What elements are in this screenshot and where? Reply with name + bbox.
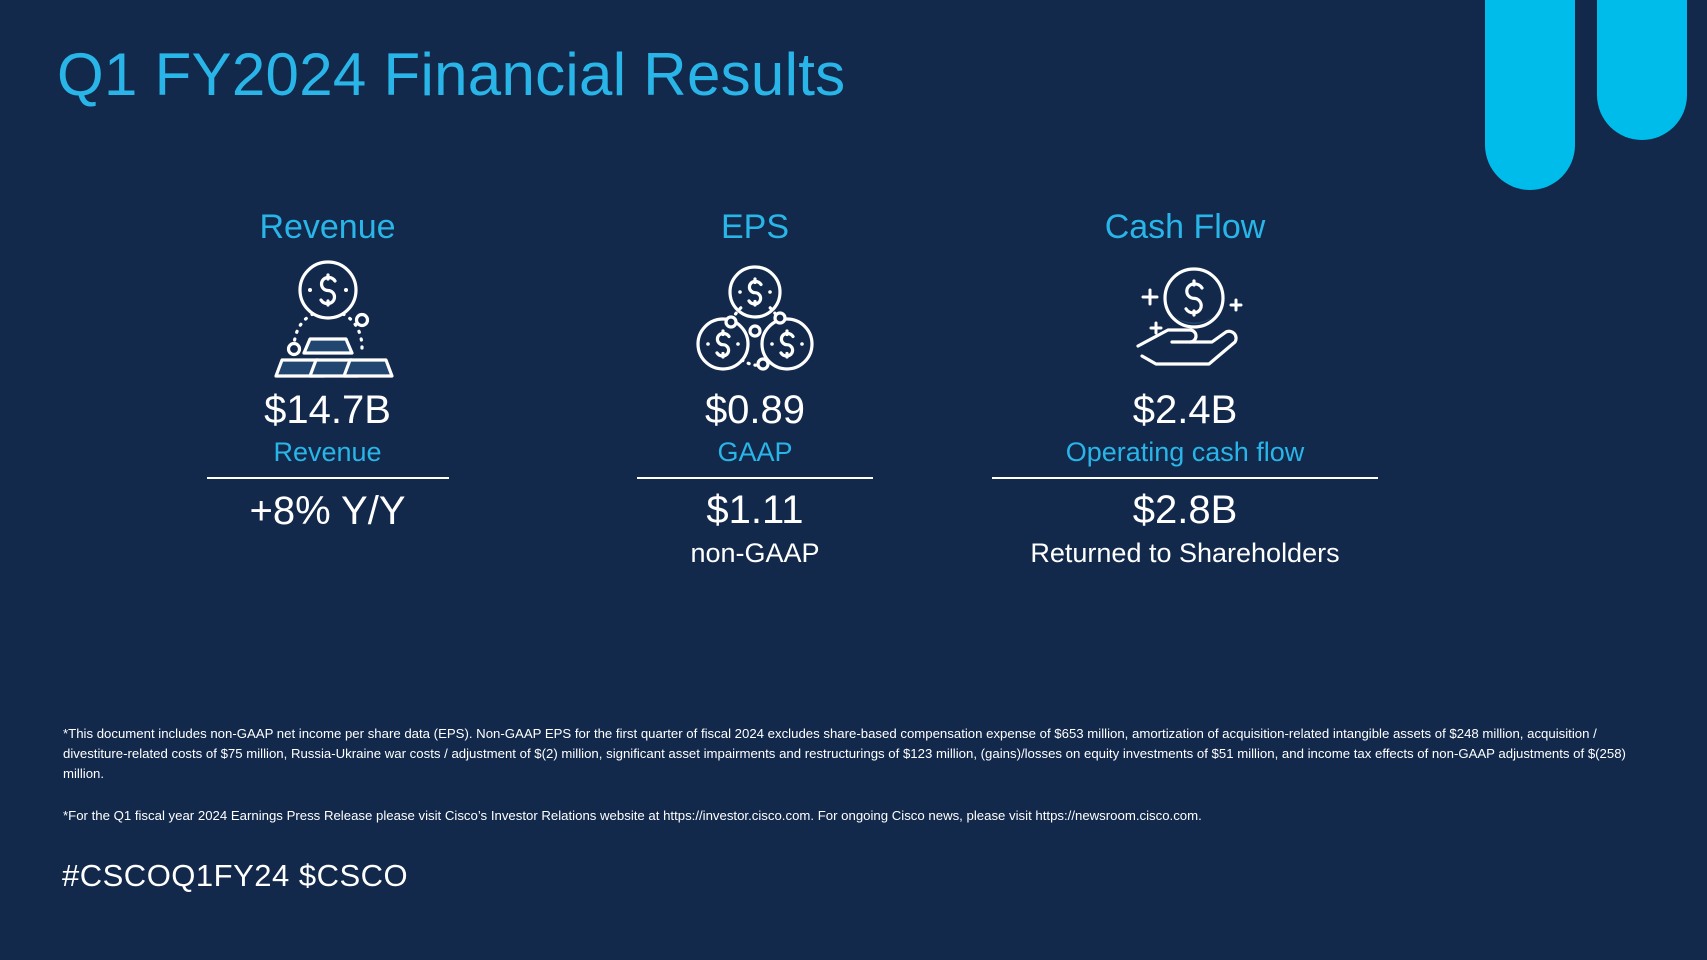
metrics-row: Revenue (0, 205, 1707, 645)
divider-eps (637, 477, 873, 479)
metric-heading-revenue: Revenue (150, 205, 505, 249)
metric-primary-value-revenue: $14.7B (150, 385, 505, 435)
gold-bars-with-dollar-coin-icon (150, 255, 505, 385)
logo-bar-left (1485, 0, 1575, 190)
metric-secondary-value-revenue: +8% Y/Y (150, 485, 505, 537)
hand-holding-dollar-coin-icon (985, 255, 1385, 385)
three-dollar-coins-network-icon (605, 255, 905, 385)
metric-primary-label-cash-flow: Operating cash flow (985, 435, 1385, 469)
divider-revenue (207, 477, 449, 479)
cisco-logo (1485, 0, 1690, 200)
page-title: Q1 FY2024 Financial Results (57, 40, 845, 109)
footnote-paragraph-1: *This document includes non-GAAP net inc… (63, 724, 1643, 784)
metric-heading-cash-flow: Cash Flow (985, 205, 1385, 249)
metric-primary-label-eps: GAAP (605, 435, 905, 469)
metric-heading-eps: EPS (605, 205, 905, 249)
metric-primary-label-revenue: Revenue (150, 435, 505, 469)
metric-card-revenue: Revenue (150, 205, 505, 537)
metric-secondary-value-eps: $1.11 (605, 485, 905, 535)
metric-card-eps: EPS (605, 205, 905, 571)
metric-secondary-label-eps: non-GAAP (605, 535, 905, 571)
footnotes: *This document includes non-GAAP net inc… (63, 724, 1643, 826)
metric-primary-value-cash-flow: $2.4B (985, 385, 1385, 435)
metric-secondary-value-cash-flow: $2.8B (985, 485, 1385, 535)
divider-cash-flow (992, 477, 1378, 479)
metric-card-cash-flow: Cash Flow $2.4B Operatin (985, 205, 1385, 571)
metric-secondary-label-cash-flow: Returned to Shareholders (985, 535, 1385, 571)
metric-primary-value-eps: $0.89 (605, 385, 905, 435)
slide-root: Q1 FY2024 Financial Results Revenue (0, 0, 1707, 960)
hashtag-ticker: #CSCOQ1FY24 $CSCO (62, 858, 408, 894)
footnote-paragraph-2: *For the Q1 fiscal year 2024 Earnings Pr… (63, 806, 1643, 826)
logo-bar-right (1597, 0, 1687, 140)
